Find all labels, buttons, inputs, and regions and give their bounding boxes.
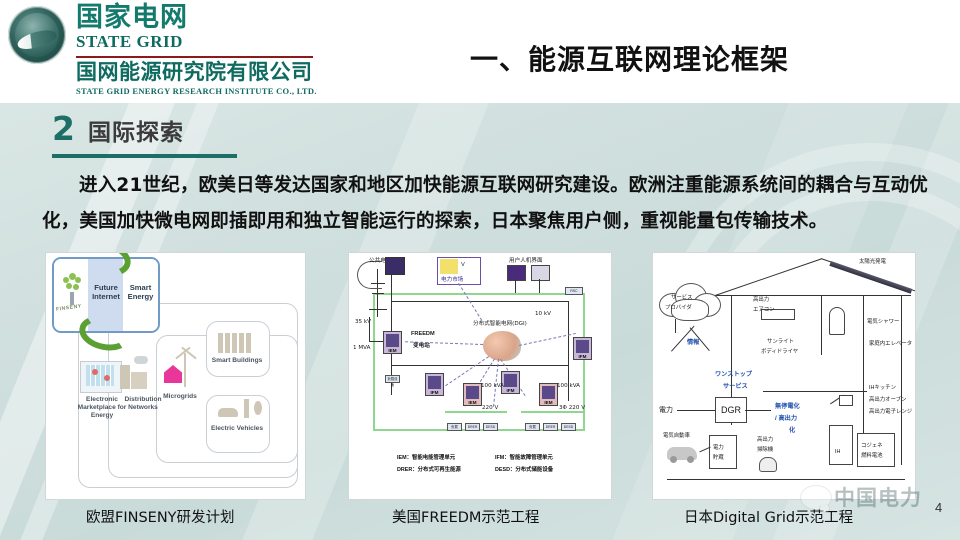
sub-bus — [445, 411, 507, 413]
cleaner-icon — [759, 457, 777, 472]
label-100kva-b: 100 kVA — [557, 383, 580, 389]
section-heading: 2 国际探索 — [52, 112, 184, 147]
figure-caption-2: 美国FREEDM示范工程 — [392, 506, 539, 527]
section-number: 2 — [52, 112, 75, 145]
power-line — [677, 410, 715, 411]
brand-name-en: STATE GRID — [76, 33, 317, 52]
smart-energy-label: Smart Energy — [124, 283, 157, 302]
brand-name-cn: 国家电网 — [76, 4, 317, 32]
page-number: 4 — [935, 500, 942, 515]
onestop-line — [763, 391, 867, 392]
brand-logo-block: 国家电网 STATE GRID 国网能源研究院有限公司 STATE GRID E… — [8, 4, 317, 96]
label-ev: 電気自動車 — [663, 431, 690, 439]
konro-box — [857, 433, 895, 467]
shower-icon — [829, 307, 845, 335]
small-device: DESD — [483, 423, 498, 431]
ifm-label: IFM — [426, 390, 443, 395]
label-elevator: 家庭内エレベータ — [869, 339, 912, 347]
small-device: 负载 — [447, 423, 462, 431]
label-uninterrupted-3: 化 — [789, 425, 795, 434]
ih-box — [829, 425, 853, 465]
buildings-icon — [218, 333, 252, 353]
cloud-icon — [657, 281, 723, 321]
grid-arc — [357, 261, 382, 289]
label-uninterrupted-2: / 高出力 — [775, 413, 797, 422]
label-10kv: 10 kV — [535, 311, 551, 317]
frame-line — [391, 301, 569, 302]
node-label: Electric Vehicles — [208, 425, 266, 433]
grid-photo — [385, 257, 405, 275]
ifm-unit-right: IFM — [573, 337, 592, 360]
label-hmi: 用户人机界面 — [509, 256, 543, 264]
legend-ifm: IFM：智能故障管理单元 — [495, 453, 553, 461]
label-power-market: 电力市场 — [441, 275, 463, 283]
label-storage-2: 貯蔵 — [713, 453, 724, 461]
figure-freedm: 公共电网 35 kV 1 MVA IEM FREEDM 变电站 V 电力市场 用… — [348, 252, 612, 500]
label-provider-1: サービス — [671, 293, 693, 301]
label-konro-2: 燃料電池 — [861, 451, 883, 459]
label-konro-1: コジェネ — [861, 441, 883, 449]
label-cleaner-2: 掃除機 — [757, 445, 773, 453]
marketplace-dot — [104, 375, 110, 381]
label-solar: 太陽光発電 — [859, 257, 886, 265]
iem-unit: IEM — [463, 383, 482, 406]
watermark-text: 中国电力 — [834, 482, 922, 512]
state-grid-globe-icon — [8, 6, 66, 64]
solar-panel-icon — [829, 261, 912, 294]
tower-base — [369, 309, 387, 310]
figure-finseny: FINSENY Future Internet Smart Energy Ele… — [45, 252, 306, 500]
monitor-icon — [507, 265, 526, 281]
monitor-icon-2 — [531, 265, 550, 281]
sub-bus — [521, 411, 583, 413]
factory-icon — [120, 365, 130, 389]
label-dryer-2: ボディドライヤ — [761, 347, 798, 355]
load-box: 负载设备 — [385, 375, 400, 383]
finseny-logo-label: FINSENY — [56, 303, 82, 313]
cloud-stem — [675, 319, 676, 333]
label-kitchen: IHキッチン — [869, 383, 896, 391]
iem-label: IEM — [464, 400, 481, 405]
label-aircon-1: 高出力 — [753, 295, 769, 303]
page-title: 一、能源互联网理论框架 — [470, 38, 789, 78]
body-paragraph: 进入21世纪，欧美日等发达国家和地区加快能源互联网研究建设。欧洲注重能源系统间的… — [42, 168, 928, 240]
node-label: Smart Buildings — [208, 357, 266, 365]
watermark: 中国电力 — [800, 482, 922, 512]
small-device: DESD — [561, 423, 576, 431]
frame-line — [391, 365, 569, 366]
legend-drer: DRER：分布式可再生能源 — [397, 465, 461, 473]
rsc-box: RSC — [565, 287, 583, 295]
car-icon — [667, 447, 697, 460]
roof-left — [715, 259, 821, 296]
ifm-unit: IFM — [425, 373, 444, 396]
label-uninterrupted-1: 無停電化 — [775, 401, 800, 410]
tower-arm — [372, 293, 384, 294]
appliance-icon — [839, 395, 853, 406]
tree-icon-2 — [244, 399, 249, 418]
label-dgr: DGR — [721, 405, 741, 415]
bus-line — [373, 293, 375, 431]
iem-label: IEM — [384, 348, 401, 353]
label-storage-1: 電力 — [713, 443, 724, 451]
post — [901, 295, 902, 465]
marketplace-grid — [86, 365, 114, 386]
ifm-label: IFM — [574, 354, 591, 359]
ifm-label: IFM — [502, 388, 519, 393]
label-100kva-a: 100 kVA — [481, 383, 504, 389]
legend-iem: IEM：智能电能管理单元 — [397, 453, 455, 461]
label-aircon-2: エアコン — [753, 305, 775, 313]
iem-label: IEM — [540, 400, 557, 405]
tree-icon-3 — [254, 401, 262, 415]
label-onestop-1: ワンストップ — [715, 369, 752, 378]
hmi-line — [539, 279, 540, 293]
slide-header: 国家电网 STATE GRID 国网能源研究院有限公司 STATE GRID E… — [0, 0, 960, 103]
marketplace-dot — [92, 369, 98, 375]
dgr-out-line — [745, 410, 771, 411]
hmi-line — [515, 279, 516, 293]
future-internet-label: Future Internet — [89, 283, 123, 302]
section-label: 国际探索 — [88, 113, 184, 147]
label-cleaner-1: 高出力 — [757, 435, 773, 443]
node-label: Microgrids — [158, 393, 202, 401]
slide: 国家电网 STATE GRID 国网能源研究院有限公司 STATE GRID E… — [0, 0, 960, 540]
car-icon — [218, 408, 238, 417]
post — [821, 295, 822, 355]
storage-box — [709, 435, 737, 469]
label-v: V — [461, 262, 465, 268]
legend-desd: DESD：分布式储能设备 — [495, 465, 553, 473]
label-1mva: 1 MVA — [353, 345, 370, 351]
figure-caption-1: 欧盟FINSENY研发计划 — [86, 506, 235, 527]
brand-text: 国家电网 STATE GRID 国网能源研究院有限公司 STATE GRID E… — [76, 4, 317, 96]
emblem-ring — [8, 6, 66, 64]
section-underline — [52, 154, 237, 158]
small-device: DRER — [543, 423, 558, 431]
small-device: 负载 — [525, 423, 540, 431]
label-dryer-1: サンライト — [767, 337, 794, 345]
label-power: 電力 — [659, 405, 673, 415]
factory-icon-2 — [131, 372, 147, 389]
label-substation: FREEDM — [411, 331, 435, 337]
company-name-cn: 国网能源研究院有限公司 — [76, 61, 317, 84]
iem-unit: IEM — [539, 383, 558, 406]
label-shower: 電気シャワー — [867, 317, 899, 325]
small-device: DRER — [465, 423, 480, 431]
ground-line — [667, 479, 905, 480]
iem-unit: IEM — [383, 331, 402, 354]
tree-icon — [61, 273, 83, 307]
label-ih: IH — [835, 449, 840, 455]
label-oven: 高出力オーブン — [869, 395, 906, 403]
post — [863, 295, 864, 455]
feeder-line — [369, 317, 370, 341]
label-onestop-2: サービス — [723, 381, 748, 390]
company-name-en: STATE GRID ENERGY RESEARCH INSTITUTE CO.… — [76, 86, 317, 96]
chat-bubble-icon — [800, 485, 832, 510]
label-microwave: 高出力電子レンジ — [869, 407, 912, 415]
label-provider-2: プロバイダ — [665, 303, 692, 311]
turbine-icon — [184, 353, 186, 387]
roof-base — [715, 295, 911, 296]
market-icon — [440, 259, 458, 274]
bus-line — [373, 293, 585, 295]
figure-digital-grid: 太陽光発電 サービス プロバイダ 情報 高出力 エアコン — [652, 252, 916, 500]
cloud-icon — [134, 356, 148, 364]
brand-divider — [76, 56, 313, 58]
